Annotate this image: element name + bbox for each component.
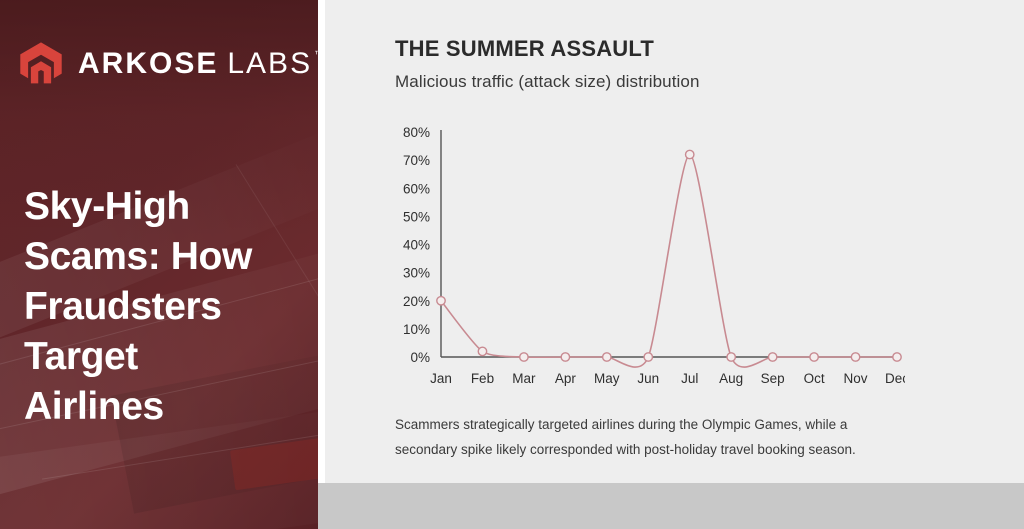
x-axis-tick: Sep (761, 371, 785, 386)
x-axis-tick: May (594, 371, 620, 386)
y-axis-tick: 80% (403, 125, 430, 140)
data-point-marker (686, 150, 694, 158)
wordmark-labs: LABS (227, 47, 312, 81)
footnote-line: secondary spike likely corresponded with… (395, 437, 955, 462)
data-point-marker (644, 353, 652, 361)
x-axis-tick: Jan (430, 371, 452, 386)
data-point-marker (603, 353, 611, 361)
chart-footnote: Scammers strategically targeted airlines… (395, 412, 955, 462)
arkose-labs-logo: ARKOSE LABS ™ (18, 41, 318, 87)
x-axis-tick: Jun (637, 371, 659, 386)
footnote-line: Scammers strategically targeted airlines… (395, 412, 955, 437)
data-series-line (441, 155, 897, 368)
data-point-markers (437, 150, 901, 361)
x-axis-tick: Mar (512, 371, 536, 386)
arkose-shield-chevron-icon (18, 41, 64, 87)
chart-plot: 0%10%20%30%40%50%60%70%80% JanFebMarAprM… (385, 118, 905, 393)
panel-divider (318, 0, 325, 529)
wordmark-arkose: ARKOSE (78, 47, 218, 81)
data-point-marker (851, 353, 859, 361)
data-point-marker (561, 353, 569, 361)
headline-line: Target (24, 332, 316, 382)
y-axis-tick: 60% (403, 181, 430, 196)
headline-line: Sky-High (24, 182, 316, 232)
chart-subtitle: Malicious traffic (attack size) distribu… (395, 72, 700, 92)
x-axis-tick: Apr (555, 371, 577, 386)
arkose-labs-wordmark: ARKOSE LABS ™ (78, 47, 318, 81)
data-point-marker (478, 347, 486, 355)
headline-line: Airlines (24, 382, 316, 432)
x-axis-tick: Aug (719, 371, 743, 386)
data-point-marker (810, 353, 818, 361)
x-axis-tick: Oct (804, 371, 825, 386)
data-point-marker (520, 353, 528, 361)
headline-line: Fraudsters (24, 282, 316, 332)
data-point-marker (768, 353, 776, 361)
x-axis-tick: Jul (681, 371, 698, 386)
headline-line: Scams: How (24, 232, 316, 282)
brand-panel: ARKOSE LABS ™ Sky-High Scams: How Frauds… (0, 0, 318, 529)
page-title: Sky-High Scams: How Fraudsters Target Ai… (24, 182, 316, 432)
line-chart: 0%10%20%30%40%50%60%70%80% JanFebMarAprM… (385, 118, 905, 393)
x-axis-tick-labels: JanFebMarAprMayJunJulAugSepOctNovDec (430, 371, 905, 386)
x-axis-tick: Feb (471, 371, 494, 386)
y-axis-tick: 50% (403, 209, 430, 224)
y-axis-tick: 30% (403, 266, 430, 281)
data-point-marker (437, 297, 445, 305)
chart-title: THE SUMMER ASSAULT (395, 36, 654, 62)
y-axis-tick-labels: 0%10%20%30%40%50%60%70%80% (403, 125, 430, 365)
chart-panel: THE SUMMER ASSAULT Malicious traffic (at… (325, 0, 1024, 483)
y-axis-tick: 20% (403, 294, 430, 309)
x-axis-tick: Nov (844, 371, 868, 386)
y-axis-tick: 40% (403, 238, 430, 253)
y-axis-tick: 0% (410, 350, 430, 365)
bottom-bar (318, 483, 1024, 529)
y-axis-tick: 70% (403, 153, 430, 168)
data-point-marker (893, 353, 901, 361)
data-point-marker (727, 353, 735, 361)
infographic-page: ARKOSE LABS ™ Sky-High Scams: How Frauds… (0, 0, 1024, 529)
y-axis-tick: 10% (403, 322, 430, 337)
x-axis-tick: Dec (885, 371, 905, 386)
